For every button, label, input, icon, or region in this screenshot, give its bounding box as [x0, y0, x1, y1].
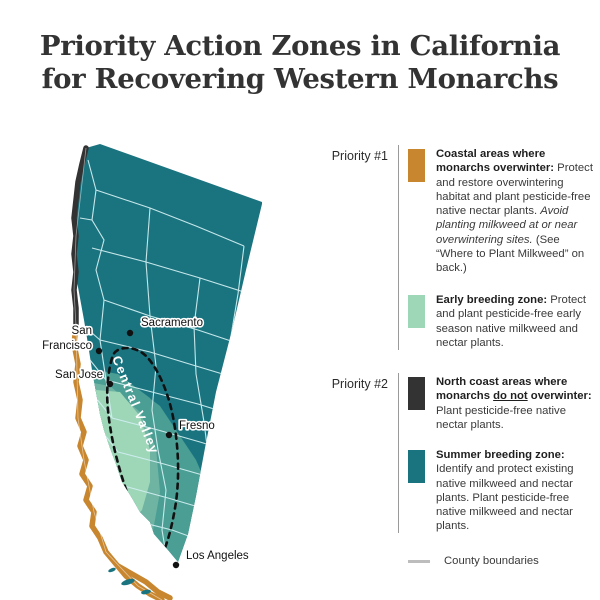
- city-dot-los-angeles: [173, 562, 179, 568]
- legend-text-coastal-overwinter: Coastal areas where monarchs overwinter:…: [436, 147, 594, 276]
- city-dot-sacramento: [127, 330, 133, 336]
- title-line-2: for Recovering Western Monarchs: [0, 63, 600, 96]
- legend-heading-early-breeding: Early breeding zone:: [436, 294, 547, 306]
- legend-body-north-coast: Plant pesticide-free native nectar plant…: [436, 405, 566, 431]
- city-label-los-angeles: Los Angeles: [186, 550, 249, 562]
- map-zone-layers: [0, 130, 300, 600]
- legend-heading-north-coast-underline: do not: [493, 390, 528, 402]
- city-dot-san-jose: [107, 381, 113, 387]
- title-line-1: Priority Action Zones in California: [0, 30, 600, 63]
- priority-1-rule: [398, 145, 399, 350]
- priority-2-label: Priority #2: [300, 377, 388, 391]
- legend: Priority #1 Coastal areas where monarchs…: [300, 145, 600, 590]
- priority-1-label: Priority #1: [300, 149, 388, 163]
- city-label-san-jose: San Jose: [55, 369, 103, 381]
- city-label-san-francisco-line2: Francisco: [42, 340, 92, 352]
- city-los-angeles: Los Angeles: [173, 550, 249, 568]
- county-boundaries-label: County boundaries: [444, 553, 539, 569]
- swatch-north-coast: [408, 377, 425, 410]
- city-dot-san-francisco: [96, 348, 102, 354]
- county-boundary-line-sample: [408, 560, 430, 563]
- legend-heading-summer-breeding: Summer breeding zone:: [436, 449, 565, 461]
- legend-entry-county-boundaries: County boundaries: [408, 553, 598, 569]
- swatch-summer-breeding: [408, 450, 425, 483]
- legend-text-north-coast: North coast areas where monarchs do not …: [436, 375, 594, 432]
- swatch-coastal-overwinter: [408, 149, 425, 182]
- legend-entry-north-coast: North coast areas where monarchs do not …: [408, 375, 594, 432]
- zone-summer-breeding: [0, 130, 300, 600]
- priority-2-rule: [398, 373, 399, 533]
- page-title: Priority Action Zones in California for …: [0, 30, 600, 96]
- legend-text-summer-breeding: Summer breeding zone: Identify and prote…: [436, 448, 594, 534]
- legend-heading-coastal-overwinter: Coastal areas where monarchs overwinter:: [436, 148, 554, 174]
- legend-entry-early-breeding: Early breeding zone: Protect and plant p…: [408, 293, 594, 350]
- city-label-fresno: Fresno: [179, 420, 215, 432]
- city-label-san-francisco-line1: San: [72, 325, 92, 337]
- california-map: Central Valley Sacramento San Francisco …: [0, 130, 300, 600]
- city-label-sacramento: Sacramento: [141, 317, 203, 329]
- swatch-early-breeding: [408, 295, 425, 328]
- california-map-svg: Central Valley Sacramento San Francisco …: [0, 130, 300, 600]
- legend-text-early-breeding: Early breeding zone: Protect and plant p…: [436, 293, 594, 350]
- legend-body-summer-breeding: Identify and protect existing native mil…: [436, 463, 574, 532]
- legend-entry-summer-breeding: Summer breeding zone: Identify and prote…: [408, 448, 594, 534]
- legend-heading-north-coast-post: overwinter:: [528, 390, 592, 402]
- city-dot-fresno: [166, 432, 172, 438]
- legend-entry-coastal-overwinter: Coastal areas where monarchs overwinter:…: [408, 147, 594, 276]
